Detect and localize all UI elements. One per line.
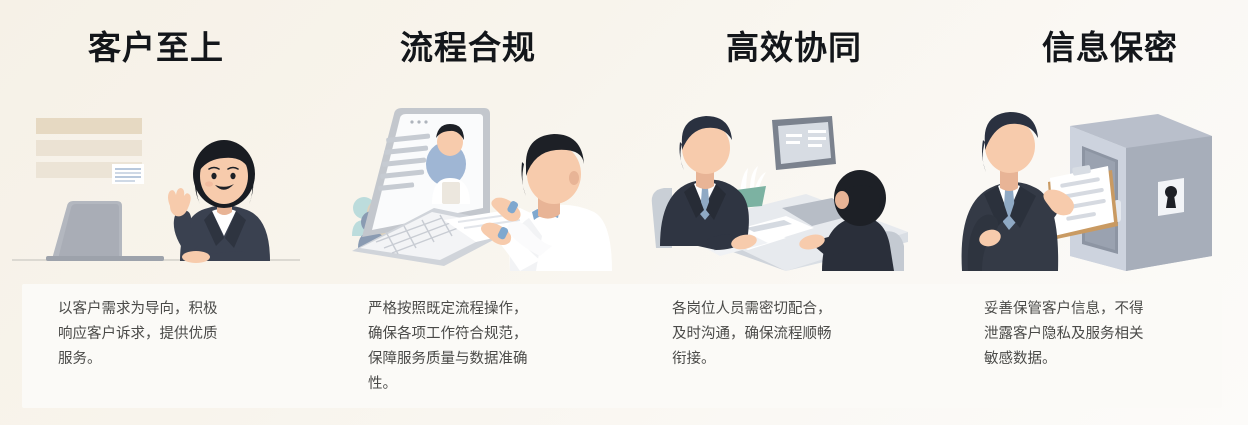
value-column-customer-first: 客户至上	[0, 0, 312, 425]
column-description: 严格按照既定流程操作， 确保各项工作符合规范， 保障服务质量与数据准确 性。	[312, 297, 624, 397]
value-column-information-confidentiality: 信息保密	[936, 0, 1248, 425]
illustration-two-people-meeting-at-desk	[636, 96, 924, 271]
column-title: 信息保密	[936, 28, 1248, 68]
column-description: 妥善保管客户信息，不得 泄露客户隐私及服务相关 敏感数据。	[936, 297, 1248, 372]
promo-banner: 客户至上	[0, 0, 1248, 425]
value-column-process-compliance: 流程合规	[312, 0, 624, 425]
column-title: 高效协同	[624, 28, 950, 68]
illustration-man-with-document-and-safe	[948, 96, 1236, 271]
column-description: 以客户需求为导向，积极 响应客户诉求，提供优质 服务。	[0, 297, 312, 372]
column-description: 各岗位人员需密切配合， 及时沟通，确保流程顺畅 衔接。	[624, 297, 936, 372]
illustration-woman-waving-at-laptop	[12, 96, 300, 271]
value-column-efficient-collaboration: 高效协同	[624, 0, 936, 425]
columns-container: 客户至上	[0, 0, 1248, 425]
illustration-man-at-laptop-video-call	[324, 96, 612, 271]
column-title: 流程合规	[312, 28, 628, 68]
column-title: 客户至上	[0, 28, 324, 68]
